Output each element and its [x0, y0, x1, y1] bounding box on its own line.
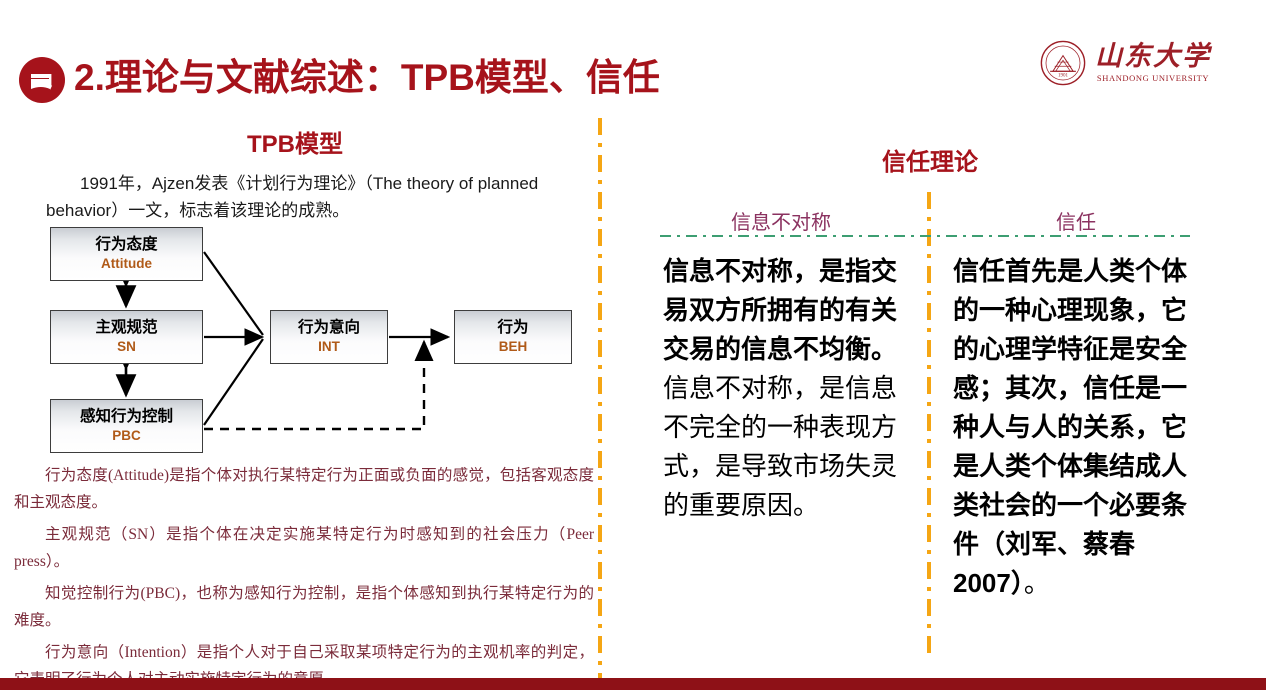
node-label-cn: 主观规范: [95, 319, 157, 337]
asymmetry-regular-text: 信息不对称，是信息不完全的一种表现方式，是导致市场失灵的重要原因。: [663, 373, 897, 520]
tpb-note-pbc: 知觉控制行为(PBC)，也称为感知行为控制，是指个体感知到执行某特定行为的难度。: [14, 580, 594, 634]
logo-wordmark: 山东大学 SHANDONG UNIVERSITY: [1095, 43, 1211, 83]
node-label-cn: 行为: [497, 319, 528, 337]
tpb-section-heading: TPB模型: [0, 124, 590, 159]
node-label-en: INT: [318, 339, 340, 355]
diagram-node-attitude: 行为态度 Attitude: [50, 227, 203, 281]
node-label-en: BEH: [499, 339, 528, 355]
trust-section-heading: 信任理论: [620, 142, 1240, 177]
university-seal-icon: 1901: [1040, 40, 1086, 86]
node-label-en: SN: [117, 339, 136, 355]
node-label-en: PBC: [112, 428, 141, 444]
asymmetry-bold-text: 信息不对称，是指交易双方所拥有的有关交易的信息不均衡。: [663, 256, 897, 364]
svg-text:1901: 1901: [1058, 72, 1069, 78]
diagram-node-beh: 行为 BEH: [454, 310, 572, 364]
tpb-notes: 行为态度(Attitude)是指个体对执行某特定行为正面或负面的感觉，包括客观态…: [14, 462, 594, 698]
page-title: 2.理论与文献综述：TPB模型、信任: [74, 52, 660, 104]
tpb-model-diagram: BEH (dashed, elbow) --> 行为态度 Attitude 主观…: [20, 222, 600, 462]
slide-header: 2.理论与文献综述：TPB模型、信任 1901 山东大学 SHANDONG UN…: [0, 0, 1266, 118]
trust-body-text: 信任首先是人类个体的一种心理现象，它的心理学特征是安全感；其次，信任是一种人与人…: [953, 252, 1201, 603]
right-section-horizontal-divider: [660, 235, 1190, 237]
column-heading-trust: 信任: [940, 206, 1212, 235]
tpb-intro-paragraph: 1991年，Ajzen发表《计划行为理论》（The theory of plan…: [46, 170, 556, 224]
diagram-node-int: 行为意向 INT: [270, 310, 388, 364]
right-columns-vertical-divider: [927, 192, 931, 654]
logo-chinese-name: 山东大学: [1095, 43, 1211, 70]
tpb-note-attitude: 行为态度(Attitude)是指个体对执行某特定行为正面或负面的感觉，包括客观态…: [14, 462, 594, 516]
tpb-note-sn: 主观规范（SN）是指个体在决定实施某特定行为时感知到的社会压力（Peer pre…: [14, 521, 594, 575]
trust-regular-text: 。: [1024, 568, 1050, 598]
node-label-cn: 行为意向: [298, 319, 360, 337]
node-label-en: Attitude: [101, 256, 152, 272]
logo-english-name: SHANDONG UNIVERSITY: [1097, 74, 1209, 83]
university-logo: 1901 山东大学 SHANDONG UNIVERSITY: [1040, 40, 1211, 86]
asymmetry-body-text: 信息不对称，是指交易双方所拥有的有关交易的信息不均衡。信息不对称，是信息不完全的…: [663, 252, 921, 525]
trust-bold-text: 信任首先是人类个体的一种心理现象，它的心理学特征是安全感；其次，信任是一种人与人…: [953, 256, 1187, 598]
diagram-node-sn: 主观规范 SN: [50, 310, 203, 364]
bottom-accent-bar: [0, 678, 1266, 690]
diagram-node-pbc: 感知行为控制 PBC: [50, 399, 203, 453]
node-label-cn: 感知行为控制: [80, 408, 173, 426]
column-heading-asymmetry: 信息不对称: [645, 206, 917, 235]
graduation-cap-icon: [19, 57, 65, 103]
node-label-cn: 行为态度: [95, 236, 157, 254]
